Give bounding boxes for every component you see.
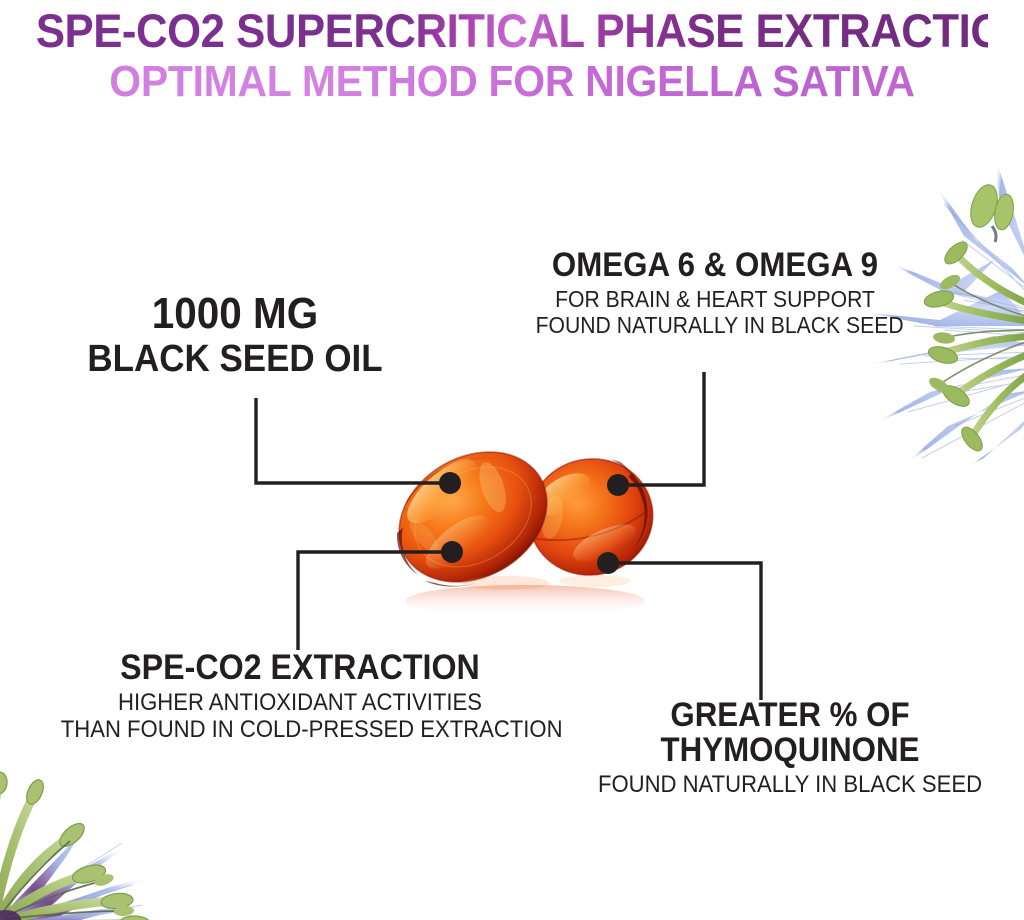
header: SPE-CO2 SUPERCRITICAL PHASE EXTRACTION O… xyxy=(0,0,1024,120)
callout-omega-subline-1: FOR BRAIN & HEART SUPPORT xyxy=(536,287,895,312)
callout-thymoquinone-subline-1: FOUND NATURALLY IN BLACK SEED xyxy=(588,772,993,798)
callout-dosage: 1000 MG BLACK SEED OIL xyxy=(0,292,470,378)
callout-omega-heading: OMEGA 6 & OMEGA 9 xyxy=(536,248,895,282)
page-subtitle: OPTIMAL METHOD FOR NIGELLA SATIVA xyxy=(36,59,988,105)
callout-thymoquinone-heading-line1: GREATER % OF xyxy=(588,698,993,732)
callout-extraction-subline-2: THAN FOUND IN COLD-PRESSED EXTRACTION xyxy=(61,717,539,743)
callout-omega-subline-2: FOUND NATURALLY IN BLACK SEED xyxy=(536,313,895,338)
callout-dosage-heading-line2: BLACK SEED OIL xyxy=(19,340,451,378)
infographic-canvas: SPE-CO2 SUPERCRITICAL PHASE EXTRACTION O… xyxy=(0,0,1024,920)
page-title: SPE-CO2 SUPERCRITICAL PHASE EXTRACTION xyxy=(36,6,988,55)
callout-extraction: SPE-CO2 EXTRACTION HIGHER ANTIOXIDANT AC… xyxy=(40,650,560,743)
callout-extraction-subline-1: HIGHER ANTIOXIDANT ACTIVITIES xyxy=(61,690,539,716)
capsule-reflection xyxy=(405,585,645,617)
nigella-flower-bottom-left-image xyxy=(0,719,197,920)
callout-thymoquinone: GREATER % OF THYMOQUINONE FOUND NATURALL… xyxy=(570,698,1010,798)
callout-extraction-heading: SPE-CO2 EXTRACTION xyxy=(61,650,539,685)
callout-dosage-heading-line1: 1000 MG xyxy=(19,292,451,336)
callout-thymoquinone-heading-line2: THYMOQUINONE xyxy=(588,733,993,767)
callout-omega: OMEGA 6 & OMEGA 9 FOR BRAIN & HEART SUPP… xyxy=(520,248,910,338)
softgel-capsules-image xyxy=(355,405,685,635)
